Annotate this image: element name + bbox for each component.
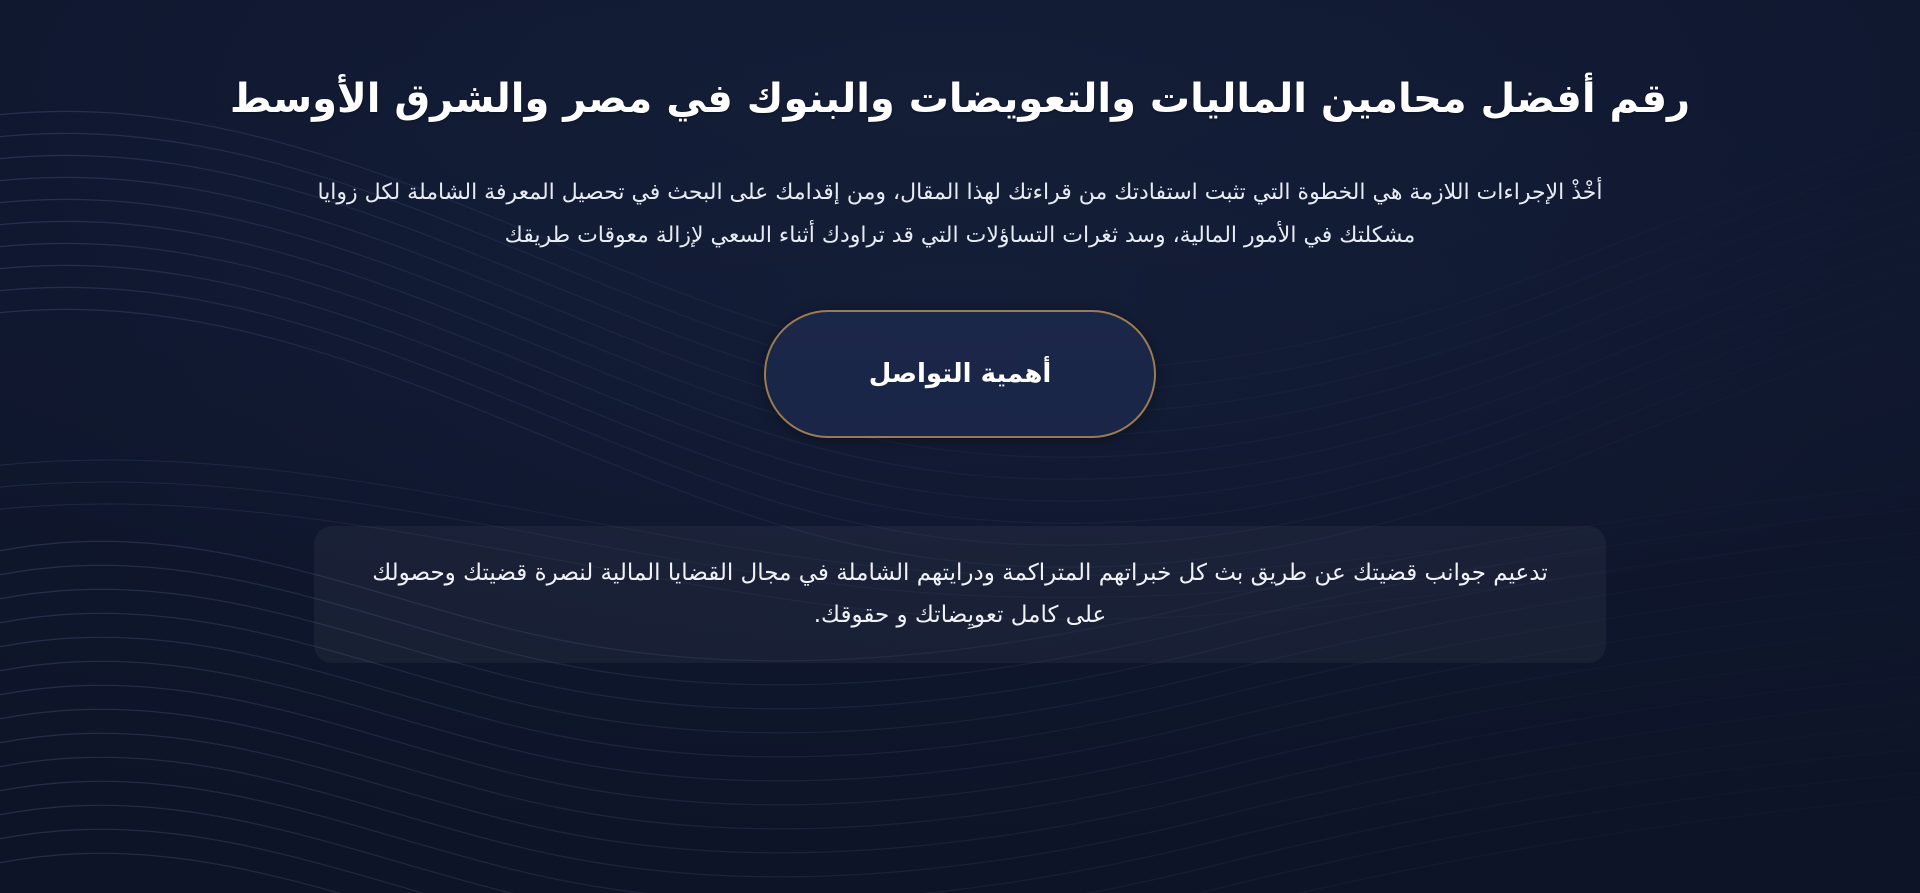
hero-content: رقم أفضل محامين الماليات والتعويضات والب… [0,0,1920,893]
page-title: رقم أفضل محامين الماليات والتعويضات والب… [230,72,1690,126]
info-card: تدعيم جوانب قضيتك عن طريق بث كل خبراتهم … [314,526,1606,663]
hero-section: رقم أفضل محامين الماليات والتعويضات والب… [0,0,1920,893]
contact-importance-button[interactable]: أهمية التواصل [764,310,1156,438]
info-card-text: تدعيم جوانب قضيتك عن طريق بث كل خبراتهم … [360,552,1560,637]
cta-container: أهمية التواصل [764,310,1156,438]
hero-description: أخْذْ الإجراءات اللازمة هي الخطوة التي ت… [315,172,1605,258]
